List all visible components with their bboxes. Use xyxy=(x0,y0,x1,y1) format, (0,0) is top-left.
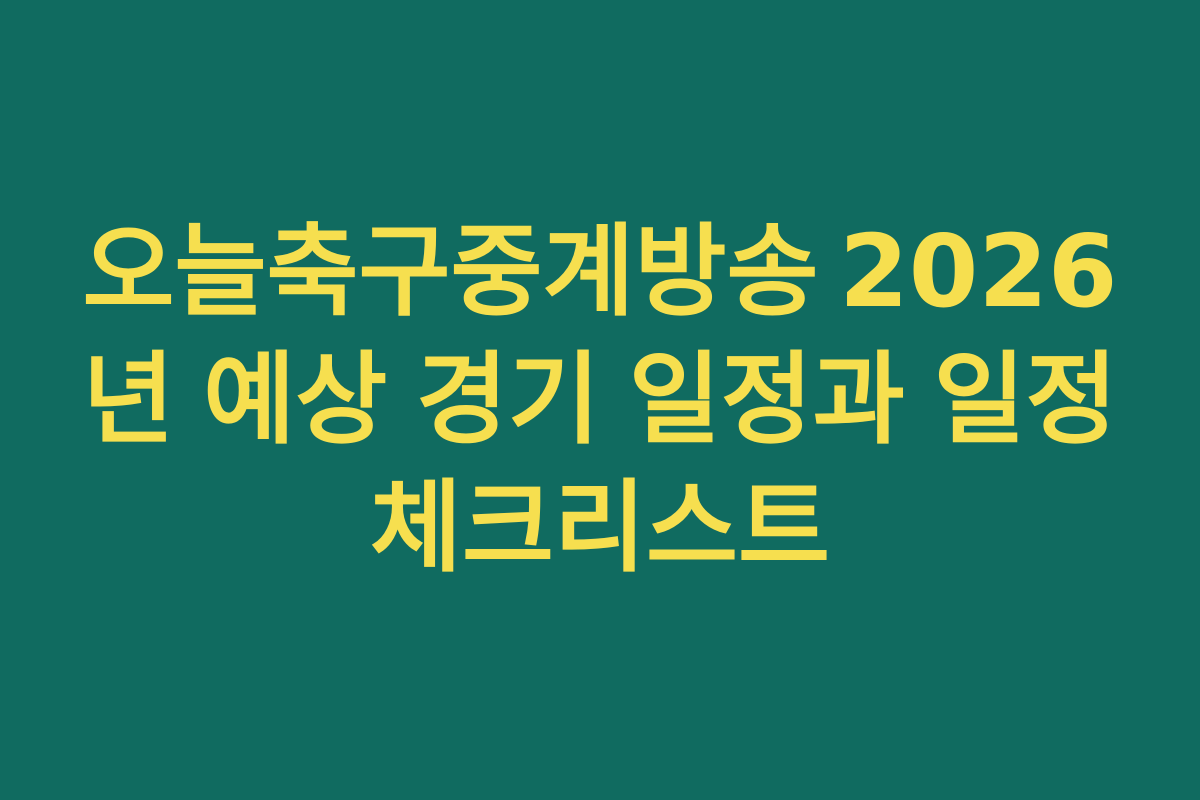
title-line-3: 체크리스트 xyxy=(83,464,1118,592)
title-line-2-segment-2: 예상 xyxy=(203,336,387,464)
title-line-1-segment-2: 2026 xyxy=(839,208,1117,336)
page-title: 오늘축구중계방송 2026 년 예상 경기 일정과 일정 체크리스트 xyxy=(83,208,1118,592)
title-line-1: 오늘축구중계방송 2026 xyxy=(83,208,1118,336)
title-line-2-segment-1: 년 xyxy=(83,336,175,464)
title-line-2-segment-4: 일정과 xyxy=(629,336,905,464)
title-card: 오늘축구중계방송 2026 년 예상 경기 일정과 일정 체크리스트 xyxy=(0,0,1200,800)
title-line-1-segment-1: 오늘축구중계방송 xyxy=(83,208,819,336)
title-line-2-segment-5: 일정 xyxy=(934,336,1118,464)
title-line-2: 년 예상 경기 일정과 일정 xyxy=(83,336,1118,464)
title-line-2-segment-3: 경기 xyxy=(416,336,600,464)
